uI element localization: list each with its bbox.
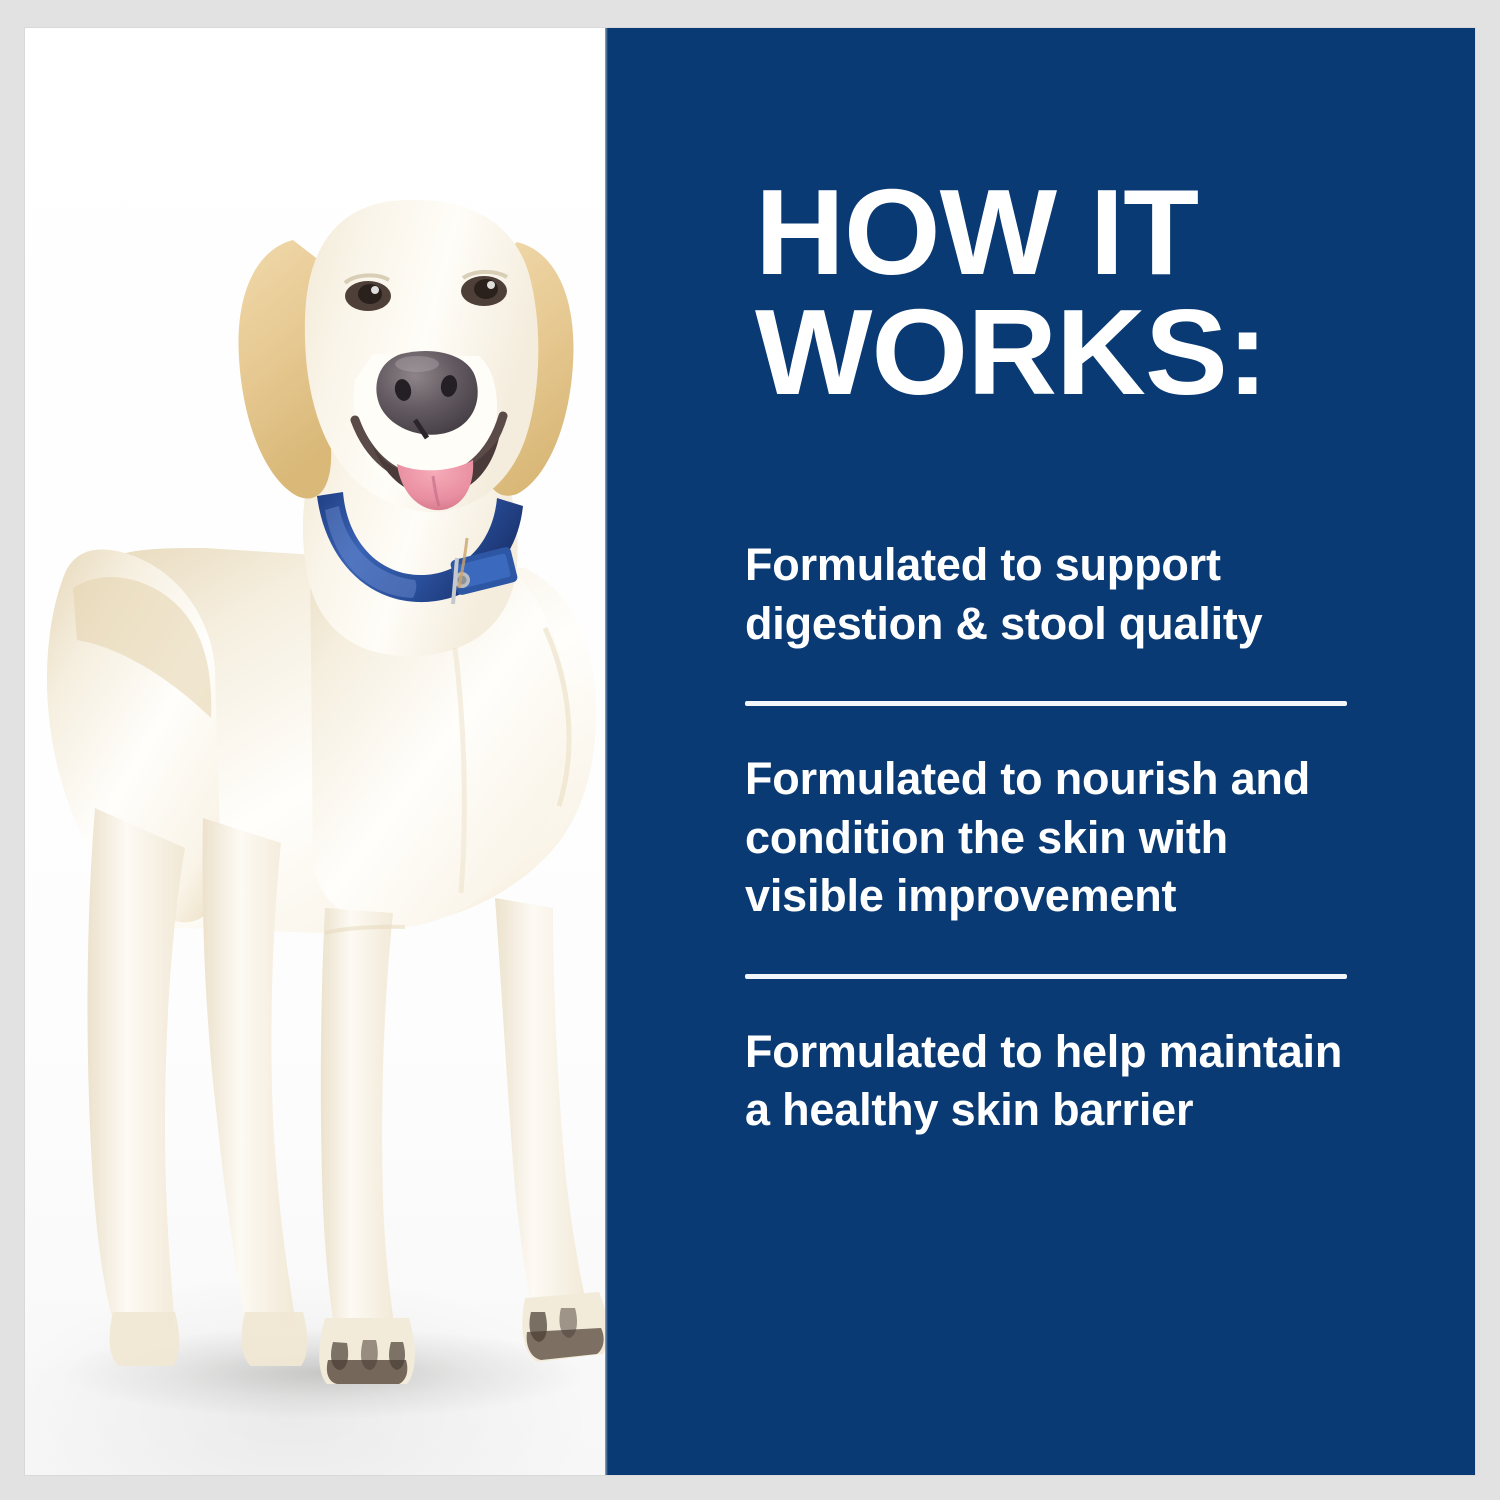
- headline-line-2: WORKS:: [755, 293, 1408, 413]
- benefit-item-2: Formulated to nourish and condition the …: [745, 750, 1375, 926]
- benefit-item-3: Formulated to help maintain a healthy sk…: [745, 1023, 1375, 1140]
- benefit-text-2: Formulated to nourish and condition the …: [745, 750, 1375, 926]
- benefit-item-1: Formulated to support digestion & stool …: [745, 536, 1375, 653]
- dog-paw-hind-right: [242, 1312, 308, 1366]
- info-panel: HOW IT WORKS: Formulated to support dige…: [605, 28, 1475, 1475]
- dog-paw-front-right: [522, 1292, 605, 1362]
- benefit-text-3: Formulated to help maintain a healthy sk…: [745, 1023, 1375, 1140]
- benefit-list: Formulated to support digestion & stool …: [745, 536, 1375, 1140]
- content-card: HOW IT WORKS: Formulated to support dige…: [25, 28, 1475, 1475]
- benefit-divider-1: [745, 701, 1347, 706]
- benefit-divider-2: [745, 974, 1347, 979]
- dog-paw-hind-left: [110, 1312, 180, 1366]
- dog-hind-leg-left: [88, 808, 185, 1328]
- dog-paw-front-left: [319, 1318, 415, 1384]
- poster-root: HOW IT WORKS: Formulated to support dige…: [0, 0, 1500, 1500]
- dog-front-leg-left: [321, 908, 397, 1340]
- dog-photo-pane: [25, 28, 605, 1475]
- headline-line-1: HOW IT: [755, 173, 1408, 293]
- page-title: HOW IT WORKS:: [755, 173, 1408, 412]
- benefit-text-1: Formulated to support digestion & stool …: [745, 536, 1375, 653]
- dog-illustration: [25, 28, 605, 1475]
- dog-svg: [25, 28, 605, 1475]
- dog-front-leg-right: [495, 898, 591, 1328]
